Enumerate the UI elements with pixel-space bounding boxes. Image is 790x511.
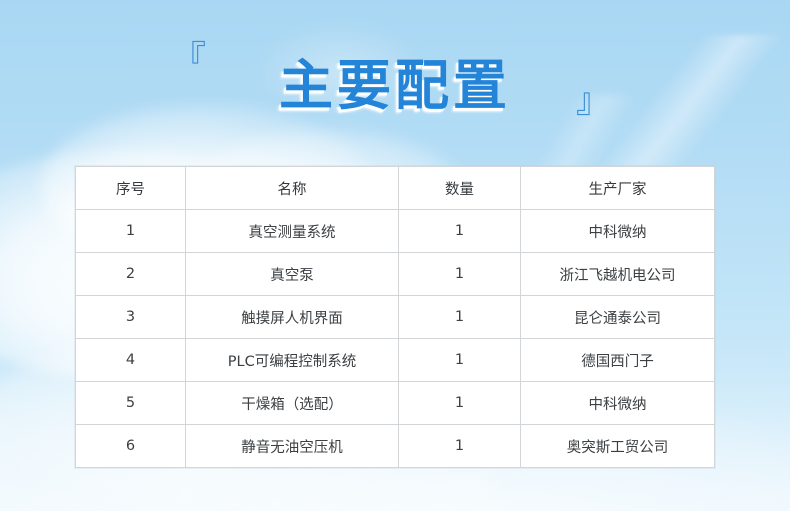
cell-qty: 1 xyxy=(399,339,521,382)
table-row: 5 干燥箱（选配） 1 中科微纳 xyxy=(76,382,715,425)
cell-name: 静音无油空压机 xyxy=(186,425,399,468)
cell-name: 干燥箱（选配） xyxy=(186,382,399,425)
cell-qty: 1 xyxy=(399,210,521,253)
table-row: 3 触摸屏人机界面 1 昆仑通泰公司 xyxy=(76,296,715,339)
cell-qty: 1 xyxy=(399,425,521,468)
cell-mfr: 奥突斯工贸公司 xyxy=(521,425,715,468)
cell-no: 3 xyxy=(76,296,186,339)
page-title: 主要配置 xyxy=(0,58,790,112)
cell-mfr: 昆仑通泰公司 xyxy=(521,296,715,339)
cell-mfr: 中科微纳 xyxy=(521,210,715,253)
table-row: 6 静音无油空压机 1 奥突斯工贸公司 xyxy=(76,425,715,468)
cell-name: PLC可编程控制系统 xyxy=(186,339,399,382)
table-row: 4 PLC可编程控制系统 1 德国西门子 xyxy=(76,339,715,382)
page-root: 『 主要配置 』 序号 名称 数量 生产厂家 1 真空测量系统 1 xyxy=(0,0,790,511)
cell-name: 真空测量系统 xyxy=(186,210,399,253)
cell-qty: 1 xyxy=(399,382,521,425)
cell-mfr: 德国西门子 xyxy=(521,339,715,382)
column-header-qty: 数量 xyxy=(399,167,521,210)
column-header-mfr: 生产厂家 xyxy=(521,167,715,210)
cell-no: 5 xyxy=(76,382,186,425)
cell-no: 2 xyxy=(76,253,186,296)
table-body: 1 真空测量系统 1 中科微纳 2 真空泵 1 浙江飞越机电公司 3 触摸屏人机… xyxy=(76,210,715,468)
specification-table: 序号 名称 数量 生产厂家 1 真空测量系统 1 中科微纳 2 真空泵 1 浙江 xyxy=(75,166,715,468)
cell-no: 1 xyxy=(76,210,186,253)
cell-no: 6 xyxy=(76,425,186,468)
bracket-close-icon: 』 xyxy=(576,84,610,118)
cell-no: 4 xyxy=(76,339,186,382)
table-header-row: 序号 名称 数量 生产厂家 xyxy=(76,167,715,210)
cell-name: 真空泵 xyxy=(186,253,399,296)
specification-table-container: 序号 名称 数量 生产厂家 1 真空测量系统 1 中科微纳 2 真空泵 1 浙江 xyxy=(75,166,714,468)
table-header: 序号 名称 数量 生产厂家 xyxy=(76,167,715,210)
cell-qty: 1 xyxy=(399,253,521,296)
column-header-no: 序号 xyxy=(76,167,186,210)
table-row: 1 真空测量系统 1 中科微纳 xyxy=(76,210,715,253)
cell-mfr: 浙江飞越机电公司 xyxy=(521,253,715,296)
cell-name: 触摸屏人机界面 xyxy=(186,296,399,339)
page-header: 『 主要配置 』 xyxy=(0,26,790,136)
cell-qty: 1 xyxy=(399,296,521,339)
column-header-name: 名称 xyxy=(186,167,399,210)
table-row: 2 真空泵 1 浙江飞越机电公司 xyxy=(76,253,715,296)
cell-mfr: 中科微纳 xyxy=(521,382,715,425)
